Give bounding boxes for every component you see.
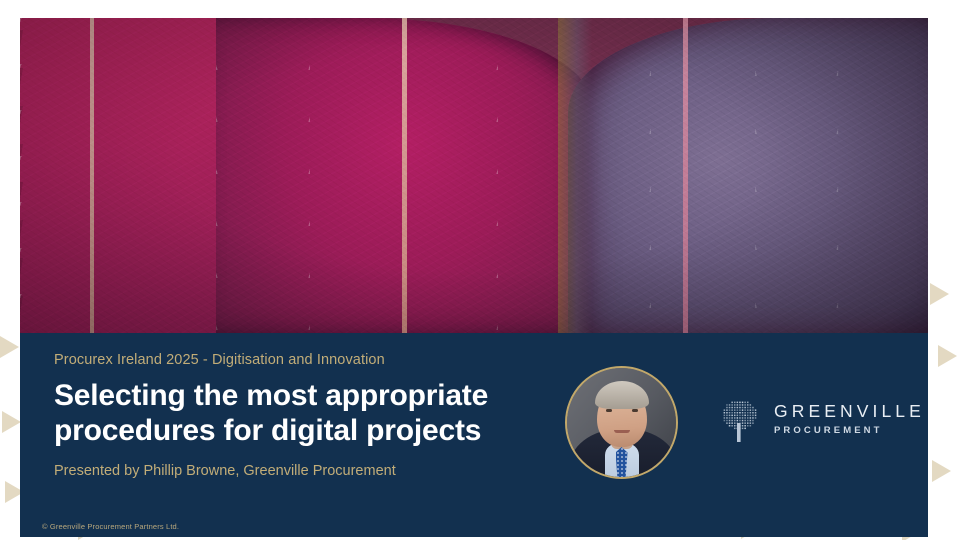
copyright-notice: © Greenville Procurement Partners Ltd. <box>42 522 179 531</box>
title-text-block: Procurex Ireland 2025 - Digitisation and… <box>54 352 554 480</box>
decorative-triangle-5 <box>932 460 951 482</box>
title-band: Procurex Ireland 2025 - Digitisation and… <box>20 333 928 537</box>
dotted-tree-icon <box>718 395 760 443</box>
decorative-triangle-0 <box>0 336 19 358</box>
page-title: Selecting the most appropriate procedure… <box>54 379 554 449</box>
hero-vignette <box>20 18 928 333</box>
brand-logo-text: GREENVILLE PROCUREMENT <box>774 403 925 435</box>
avatar <box>565 366 678 479</box>
portrait-eye-right <box>632 409 638 412</box>
portrait-eye-left <box>606 409 612 412</box>
decorative-triangle-4 <box>938 345 957 367</box>
portrait-tie <box>616 447 628 479</box>
brand-logo: GREENVILLE PROCUREMENT <box>718 395 925 443</box>
brand-name: GREENVILLE <box>774 403 925 421</box>
event-eyebrow: Procurex Ireland 2025 - Digitisation and… <box>54 352 554 369</box>
portrait-mouth <box>614 430 630 433</box>
decorative-triangle-1 <box>2 411 21 433</box>
hero-image <box>20 18 928 333</box>
presenter-line: Presented by Phillip Browne, Greenville … <box>54 463 554 480</box>
brand-tagline: PROCUREMENT <box>774 426 925 436</box>
decorative-triangle-3 <box>930 283 949 305</box>
